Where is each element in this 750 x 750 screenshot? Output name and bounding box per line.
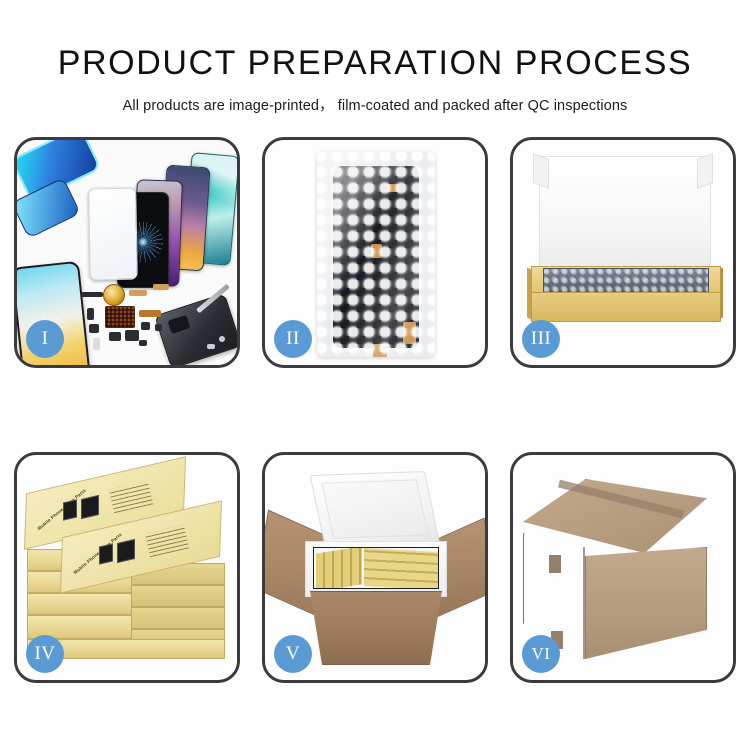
small-part-icon	[141, 322, 150, 330]
step-3-image: III	[513, 140, 733, 365]
product-preparation-process-infographic: PRODUCT PREPARATION PROCESS All products…	[0, 0, 750, 750]
box-front-panel	[531, 292, 721, 322]
small-part-icon	[139, 340, 147, 346]
boxes-inside-carton	[313, 547, 439, 589]
step-5-image: V	[265, 455, 485, 680]
step-badge-1: I	[26, 320, 64, 358]
bubble-wrap-bag-icon	[317, 152, 435, 357]
carton-right-face	[585, 547, 707, 659]
foam-sheet-icon	[543, 194, 707, 270]
connector-icon	[129, 290, 147, 296]
yellow-box-group-left	[316, 547, 362, 589]
step-6-image: VI	[513, 455, 733, 680]
step-panel-1: I	[14, 137, 240, 368]
chip-array-icon	[105, 306, 135, 328]
stacked-box	[27, 593, 135, 615]
stacked-box	[131, 585, 225, 607]
bubble-wrapped-contents-icon	[543, 268, 709, 294]
step-2-image: II	[265, 140, 485, 365]
small-part-icon	[93, 338, 100, 350]
screen-protector-icon	[88, 188, 138, 281]
box-window-icon	[63, 499, 77, 520]
carton-corner-seam	[583, 547, 585, 659]
step-4-image: Mobile Phone Spare Parts Mobile Phone Sp…	[17, 455, 237, 680]
foam-lid-inner	[321, 479, 428, 538]
small-part-icon	[125, 330, 139, 341]
step-panel-4: Mobile Phone Spare Parts Mobile Phone Sp…	[14, 452, 240, 683]
screw-icon	[219, 336, 225, 342]
page-subtitle: All products are image-printed， film-coa…	[0, 94, 750, 115]
gold-coil-part-icon	[103, 284, 125, 306]
page-title: PRODUCT PREPARATION PROCESS	[0, 46, 750, 80]
step-badge-4: IV	[26, 635, 64, 673]
lid-tab-left-icon	[533, 153, 549, 189]
carton-body-icon	[301, 591, 451, 665]
flex-cable-icon	[139, 310, 161, 317]
small-part-icon	[109, 332, 121, 341]
box-window-icon	[117, 539, 135, 563]
small-part-icon	[87, 308, 94, 320]
phone-back-cover-icon	[154, 293, 237, 365]
step-badge-6: VI	[522, 635, 560, 673]
step-panel-6: VI	[510, 452, 736, 683]
step-panel-3: III	[510, 137, 736, 368]
process-steps-grid: I II	[14, 137, 736, 682]
lid-tab-right-icon	[697, 153, 713, 189]
step-panel-5: V	[262, 452, 488, 683]
carton-mark-upper	[549, 555, 561, 573]
box-window-icon	[81, 495, 99, 519]
step-1-image: I	[17, 140, 237, 365]
step-badge-5: V	[274, 635, 312, 673]
screw-icon	[207, 344, 215, 349]
yellow-box-group-right	[364, 548, 438, 589]
header: PRODUCT PREPARATION PROCESS All products…	[0, 0, 750, 115]
connector-icon	[153, 284, 169, 290]
plastic-sheen	[317, 152, 435, 357]
small-part-icon	[155, 324, 162, 331]
stacked-box	[131, 607, 225, 629]
step-badge-3: III	[522, 320, 560, 358]
step-panel-2: II	[262, 137, 488, 368]
small-part-icon	[81, 292, 103, 297]
small-part-icon	[89, 324, 99, 333]
step-badge-2: II	[274, 320, 312, 358]
box-window-icon	[99, 543, 113, 564]
